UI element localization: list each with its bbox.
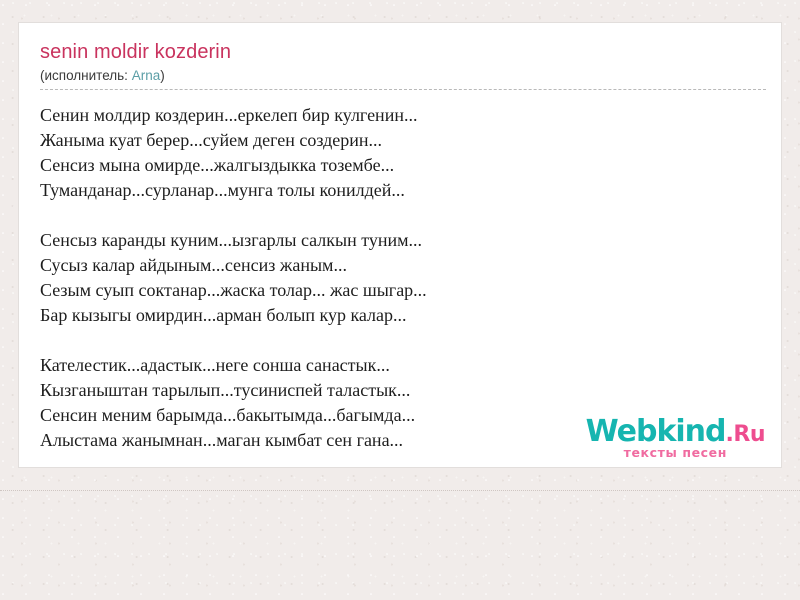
lyrics-stanza: Сенин молдир коздерин...еркелеп бир кулг… — [40, 103, 740, 203]
lyrics-stanza: Сенсыз каранды куним...ызгарлы салкын ту… — [40, 228, 740, 328]
lyrics-line: Кателестик...адастык...неге сонша санаст… — [40, 353, 740, 378]
lyrics-line: Сенсиз мына омирде...жалгыздыкка тозембе… — [40, 153, 740, 178]
artist-line: (исполнитель: Arna) — [40, 67, 766, 84]
site-logo: Webkind.Ru тексты песен — [586, 416, 765, 460]
lyrics-line: Туманданар...сурланар...мунга толы конил… — [40, 178, 740, 203]
lyrics-line: Жаныма куат берер...суйем деген создерин… — [40, 128, 740, 153]
lyrics-line: Бар кызыгы омирдин...арман болып кур кал… — [40, 303, 740, 328]
artist-label-prefix: (исполнитель: — [40, 68, 132, 83]
logo-word-main: Webkind — [586, 414, 726, 449]
lyrics-line: Сезым суып соктанар...жаска толар... жас… — [40, 278, 740, 303]
footer-divider — [0, 490, 800, 491]
page-title: senin moldir kozderin — [40, 40, 766, 64]
lyrics-content-card: senin moldir kozderin (исполнитель: Arna… — [18, 22, 782, 468]
song-header: senin moldir kozderin (исполнитель: Arna… — [40, 40, 766, 98]
artist-link[interactable]: Arna — [132, 68, 161, 83]
lyrics-line: Кызганыштан тарылып...тусиниспей таласты… — [40, 378, 740, 403]
lyrics-line: Сенсыз каранды куним...ызгарлы салкын ту… — [40, 228, 740, 253]
artist-label-suffix: ) — [160, 68, 165, 83]
lyrics-line: Сусыз калар айдыным...сенсиз жаным... — [40, 253, 740, 278]
lyrics-line: Сенин молдир коздерин...еркелеп бир кулг… — [40, 103, 740, 128]
header-divider — [40, 89, 766, 90]
logo-word-tld: .Ru — [726, 422, 765, 447]
